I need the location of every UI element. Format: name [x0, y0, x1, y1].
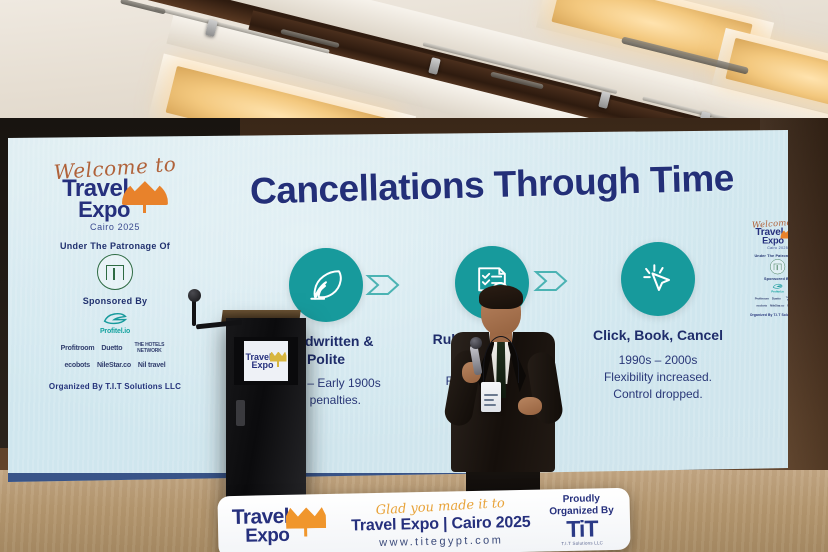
tit-solutions-sublabel: T.I.T Solutions LLC	[550, 540, 615, 546]
sponsor-primary-name: Profitel.io	[16, 328, 214, 335]
banner-umbrella-logo-icon	[286, 506, 327, 537]
slide-step-3: Click, Book, Cancel 1990s – 2000s Flexib…	[570, 242, 746, 404]
right-sponsored-by-label: Sponsored By	[736, 277, 788, 281]
microphone-head-icon	[188, 289, 201, 302]
badge-line-2	[484, 399, 494, 401]
tit-solutions-logo: TiT	[549, 517, 614, 541]
right-patronage-label: Under The Patronage Of	[736, 254, 788, 258]
banner-travel-expo-logo: Travel Expo	[232, 507, 327, 545]
patronage-label: Under The Patronage Of	[16, 241, 214, 251]
podium-umbrella-icon	[270, 352, 287, 367]
right-sponsor-profitroom: Profitroom	[755, 297, 769, 300]
right-sponsor-nilestar: NileStar.co	[770, 305, 784, 308]
right-branding-panel: Welcome to Travel Expo Cairo 2025 Under …	[736, 218, 788, 317]
led-presentation-screen: Welcome to Travel Expo Cairo 2025 Under …	[8, 130, 788, 482]
cursor-click-icon	[621, 242, 695, 316]
right-egyptian-hotel-association-logo	[770, 259, 785, 274]
lanyard-badge-icon	[481, 382, 501, 412]
banner-url: www.titegypt.com	[332, 533, 550, 550]
banner-content: Travel Expo Glad you made it to Travel E…	[217, 488, 630, 552]
step-3-heading: Click, Book, Cancel	[570, 327, 746, 345]
banner-organizer-block: Proudly Organized By TiT T.I.T Solutions…	[549, 493, 615, 546]
right-sponsor-primary-name: Profitel.io	[736, 290, 788, 293]
sponsor-logo-nil-travel: Nil travel	[138, 362, 166, 369]
banner-main-line: Travel Expo | Cairo 2025	[332, 513, 550, 536]
speaker-hair	[479, 285, 523, 309]
right-umbrella-logo-icon	[780, 228, 788, 242]
right-sponsor-duetto: Duetto	[772, 297, 781, 300]
slide-title: Cancellations Through Time	[250, 157, 735, 212]
right-profitel-swoosh-icon	[772, 283, 784, 290]
banner-center-text: Glad you made it to Travel Expo | Cairo …	[332, 495, 550, 550]
podium-display-screen: Travel Expo	[244, 341, 288, 381]
right-organizer-line: Organized By T.I.T Solutions LLC	[736, 313, 788, 317]
podium-control-strip	[236, 400, 245, 426]
right-sponsor-primary-logo: Profitel.io	[736, 283, 788, 294]
sponsor-logo-nilestar: NileStar.co	[97, 362, 131, 369]
profitel-swoosh-icon	[101, 310, 129, 326]
podium-display-bezel: Travel Expo	[234, 337, 298, 385]
edition-label: Cairo 2025	[16, 222, 214, 232]
right-sponsor-hotels-network: THE HOTELS NETWORK	[784, 296, 788, 301]
speaker-left-hand	[518, 397, 542, 415]
banner-logo-wordmark: Travel Expo	[232, 508, 290, 545]
right-sponsor-ecobots: ecobots	[756, 305, 767, 308]
sponsor-row-1: Profitroom Duetto THE HOTELS NETWORK	[16, 342, 214, 354]
sponsor-logo-profitroom: Profitroom	[61, 345, 95, 352]
stage-front-banner: Travel Expo Glad you made it to Travel E…	[217, 488, 630, 552]
sponsor-logo-duetto: Duetto	[101, 345, 122, 352]
handheld-microphone-head	[470, 337, 482, 349]
right-edition-label: Cairo 2025	[736, 246, 788, 250]
chevron-right-arrow-icon-2	[532, 266, 572, 296]
umbrella-logo-icon	[122, 179, 168, 213]
banner-organizer-label-line-1: Proudly	[563, 493, 600, 505]
step-3-body: 1990s – 2000s Flexibility increased. Con…	[570, 352, 746, 404]
right-sponsor-nil-travel: Nil travel	[787, 305, 788, 308]
left-branding-panel: Welcome to Travel Expo Cairo 2025 Under …	[16, 156, 214, 391]
egyptian-hotel-association-logo	[97, 254, 133, 290]
right-sponsor-row-1: Profitroom Duetto THE HOTELS NETWORK	[736, 296, 788, 301]
chevron-right-arrow-icon-1	[364, 270, 404, 300]
travel-expo-wordmark: Travel Expo	[62, 178, 130, 220]
conference-stage-photo: Welcome to Travel Expo Cairo 2025 Under …	[0, 0, 828, 552]
sponsored-by-label: Sponsored By	[16, 296, 214, 306]
podium-travel-expo-logo: Travel Expo	[245, 353, 286, 369]
sponsor-logo-ecobots: ecobots	[64, 362, 89, 369]
banner-organizer-label: Proudly Organized By	[549, 493, 614, 517]
right-sponsor-row-2: ecobots NileStar.co Nil travel	[736, 305, 788, 308]
badge-line-3	[484, 404, 496, 406]
sponsor-logo-hotels-network: THE HOTELS NETWORK	[129, 342, 169, 354]
sponsor-primary-logo: Profitel.io	[16, 310, 214, 335]
sponsor-row-2: ecobots NileStar.co Nil travel	[16, 362, 214, 369]
badge-line-1	[484, 394, 498, 396]
banner-logo-line-2: Expo	[245, 527, 289, 545]
organizer-line: Organized By T.I.T Solutions LLC	[16, 382, 214, 391]
